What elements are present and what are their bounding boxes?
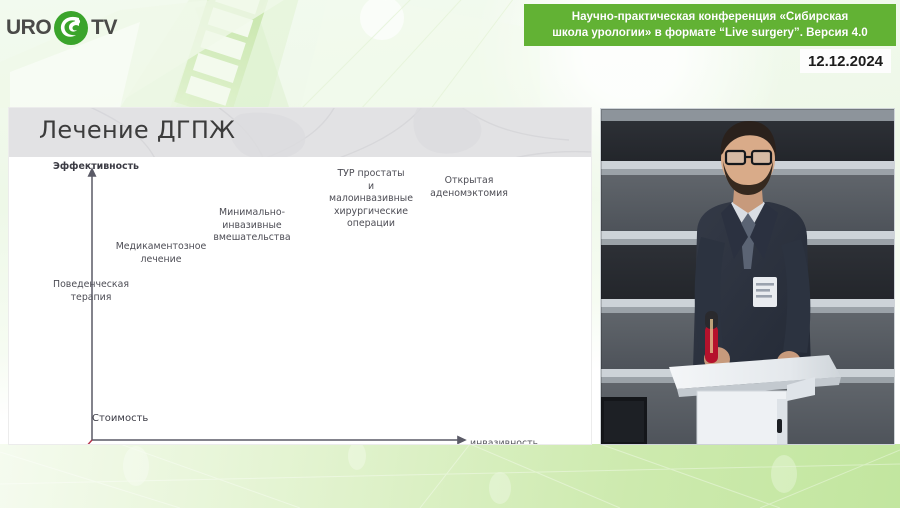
banner-line-1: Научно-практическая конференция «Сибирск… <box>552 9 868 25</box>
slide-title: Лечение ДГПЖ <box>39 116 235 144</box>
urotv-emblem-icon <box>52 9 90 47</box>
diagram-item-behavioral-therapy: Поведенческая терапия <box>35 279 147 304</box>
x-axis-label: инвазивность <box>470 438 538 445</box>
banner-line-2: школа урологии» в формате “Live surgery”… <box>552 25 868 41</box>
logo-text-tv: TV <box>91 16 117 40</box>
bottom-decorative-band <box>0 444 900 508</box>
speaker-video-frame <box>601 109 895 445</box>
banner-text: Научно-практическая конференция «Сибирск… <box>552 9 868 40</box>
conference-banner: Научно-практическая конференция «Сибирск… <box>524 4 896 46</box>
diagram-item-minimally-invasive: Минимально- инвазивные вмешательства <box>194 207 310 245</box>
urotv-logo: URO TV <box>6 8 117 48</box>
y-axis-label: Эффективность <box>53 161 139 172</box>
descending-factors-list: Стоимость Доступность Длительность лечен… <box>92 385 302 445</box>
factor-item: Стоимость <box>92 412 302 426</box>
facet-lines <box>0 444 900 508</box>
logo-text-uro: URO <box>6 16 51 40</box>
speaker-video-panel[interactable] <box>600 108 895 445</box>
page-background: URO TV Научно-практическая конференция «… <box>0 0 900 508</box>
diagram-item-open-adenomectomy: Открытая аденомэктомия <box>413 175 525 200</box>
date-badge: 12.12.2024 <box>800 49 891 73</box>
presentation-slide[interactable]: Лечение ДГПЖ <box>8 107 592 445</box>
slide-title-bar: Лечение ДГПЖ <box>9 108 591 157</box>
date-value: 12.12.2024 <box>808 53 883 70</box>
